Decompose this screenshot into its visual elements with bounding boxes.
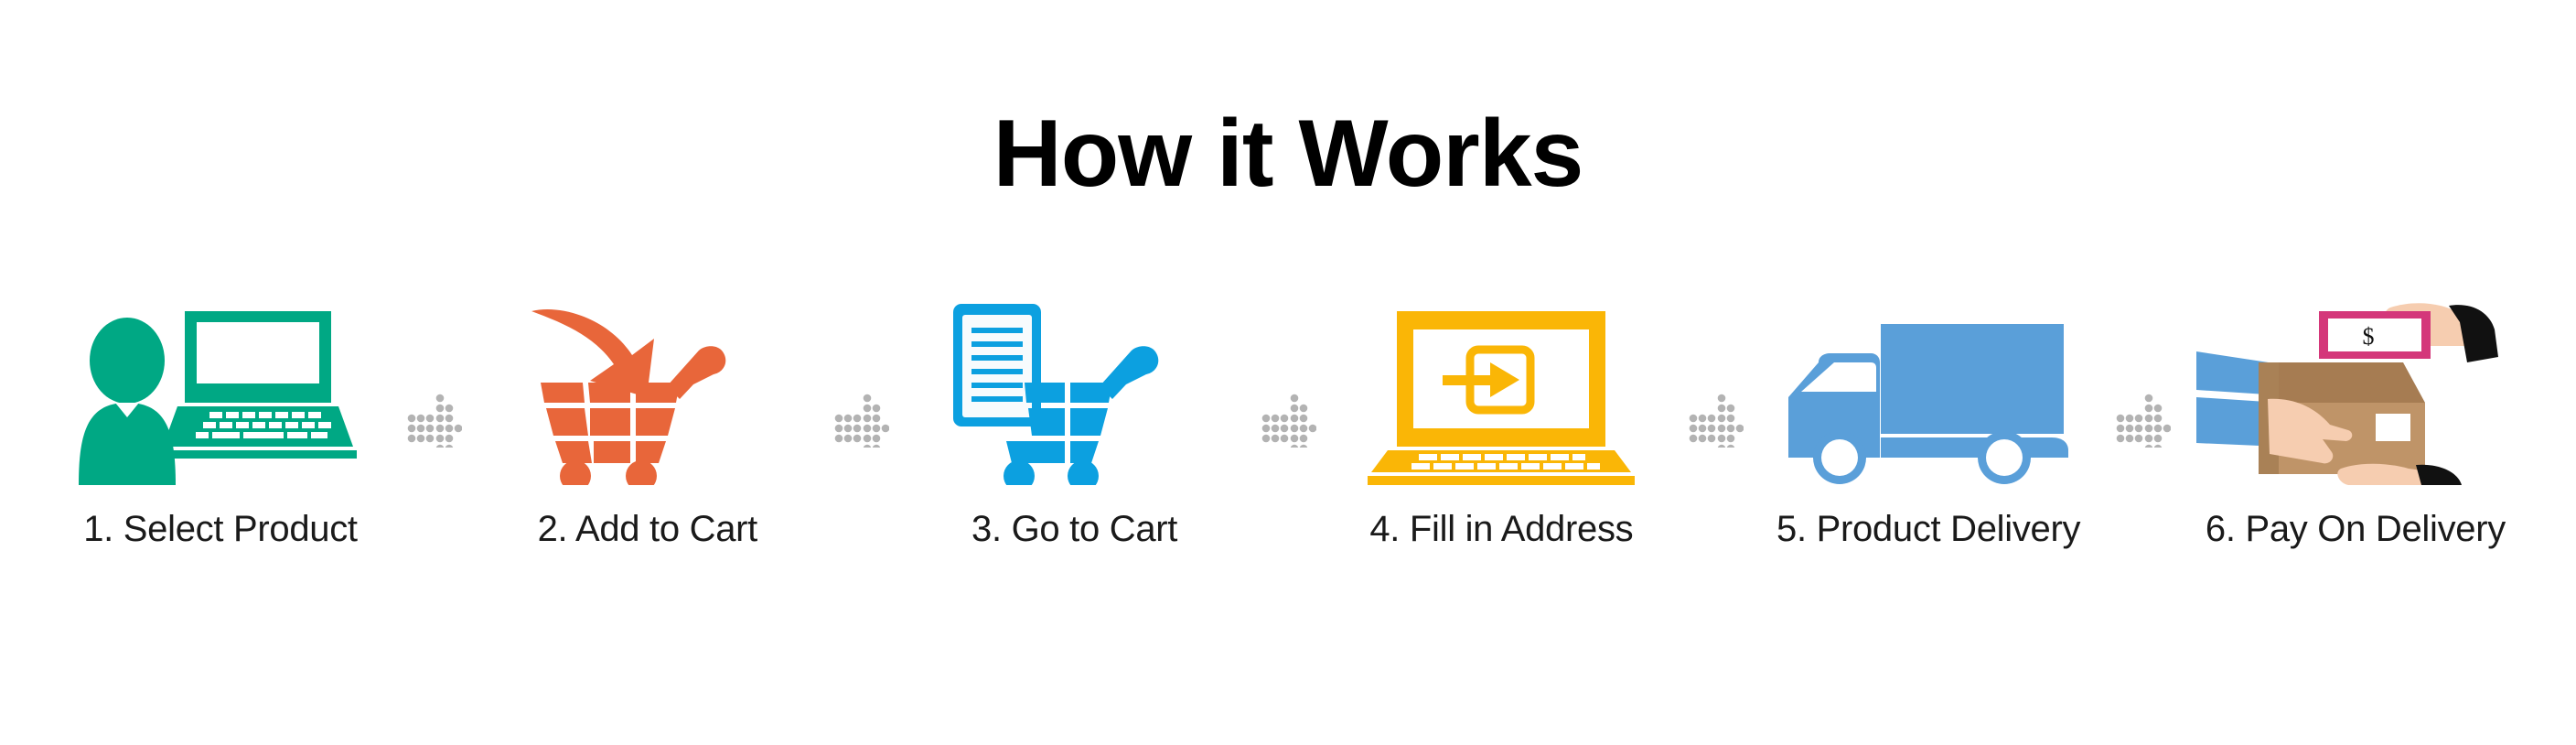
money-symbol: $ bbox=[2362, 323, 2374, 350]
step-label: 1. Select Product bbox=[83, 509, 358, 550]
step-label: 2. Add to Cart bbox=[538, 509, 757, 550]
step-6-pay-on-delivery[interactable]: $ 6. Pay On Delivery bbox=[2185, 302, 2526, 550]
person-with-laptop-icon bbox=[50, 302, 391, 485]
step-3-go-to-cart[interactable]: 3. Go to Cart bbox=[905, 302, 1245, 550]
dotted-arrow-right-icon bbox=[1687, 328, 1744, 511]
hands-box-money-icon: $ bbox=[2185, 302, 2526, 485]
step-4-fill-in-address[interactable]: 4. Fill in Address bbox=[1331, 302, 1671, 550]
dotted-arrow-right-icon bbox=[1260, 328, 1316, 511]
step-label: 6. Pay On Delivery bbox=[2206, 509, 2506, 550]
step-1-select-product[interactable]: 1. Select Product bbox=[50, 302, 391, 550]
step-label: 4. Fill in Address bbox=[1369, 509, 1633, 550]
step-2-add-to-cart[interactable]: 2. Add to Cart bbox=[478, 302, 818, 550]
steps-row: 1. Select Product bbox=[50, 302, 2526, 632]
dotted-arrow-right-icon bbox=[2114, 328, 2171, 511]
infographic-page: How it Works bbox=[0, 0, 2576, 745]
document-with-cart-icon bbox=[905, 302, 1245, 485]
page-title: How it Works bbox=[0, 106, 2576, 201]
delivery-truck-icon bbox=[1758, 302, 2098, 485]
step-label: 3. Go to Cart bbox=[971, 509, 1177, 550]
step-5-product-delivery[interactable]: 5. Product Delivery bbox=[1758, 302, 2098, 550]
laptop-with-login-arrow-icon bbox=[1331, 302, 1671, 485]
dotted-arrow-right-icon bbox=[832, 328, 889, 511]
dotted-arrow-right-icon bbox=[405, 328, 462, 511]
cart-with-arrow-icon bbox=[478, 302, 818, 485]
step-label: 5. Product Delivery bbox=[1776, 509, 2080, 550]
